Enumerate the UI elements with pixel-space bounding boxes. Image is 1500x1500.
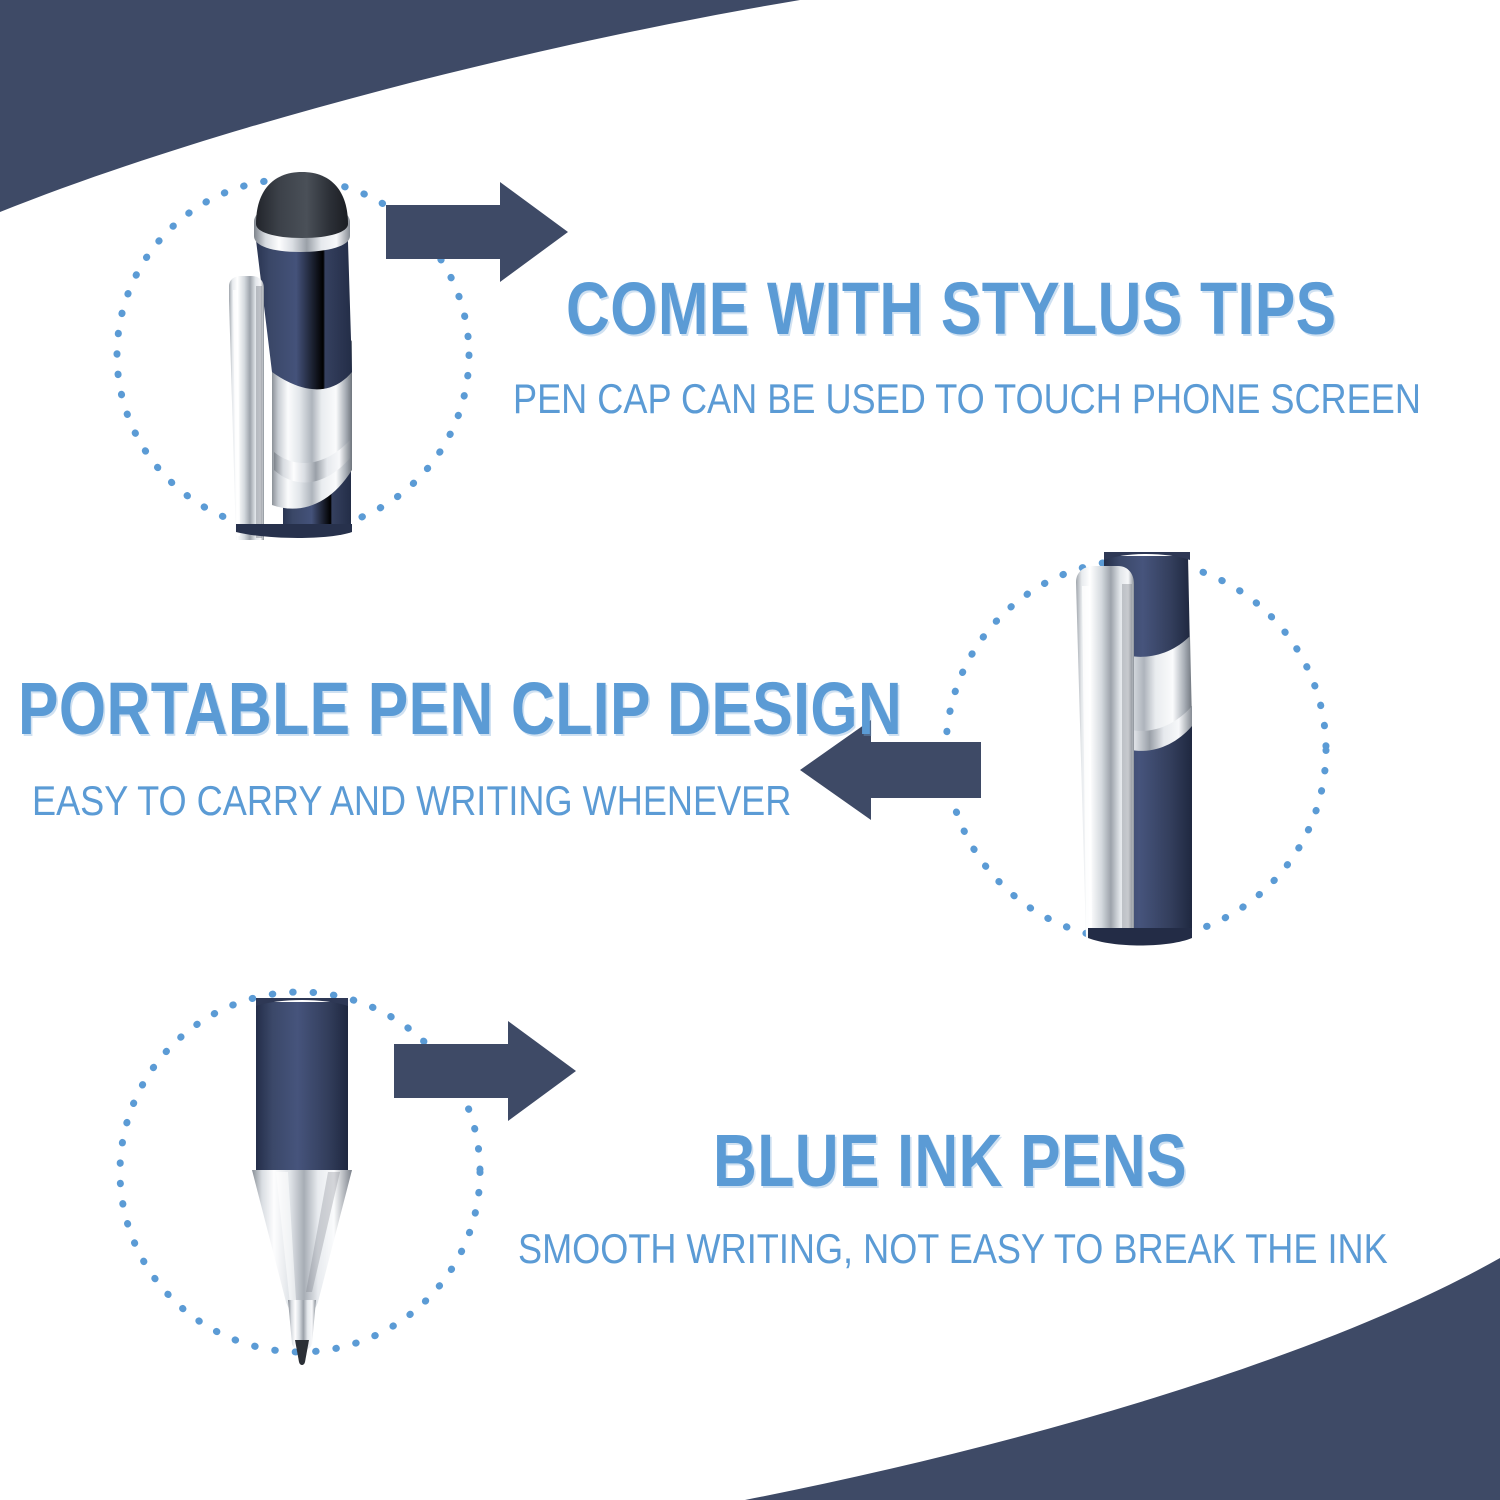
swoosh-top-left [0, 0, 800, 212]
pen-writing-tip-illustration [252, 998, 352, 1365]
infographic-canvas: COME WITH STYLUS TIPS PEN CAP CAN BE USE… [0, 0, 1500, 1500]
subheading-stylus-tips: PEN CAP CAN BE USED TO TOUCH PHONE SCREE… [513, 378, 1421, 420]
subheading-pen-clip: EASY TO CARRY AND WRITING WHENEVER [32, 780, 791, 822]
heading-blue-ink: BLUE INK PENS [713, 1124, 1187, 1198]
arrow-right-stylus [386, 182, 568, 282]
corner-decorations [0, 0, 1500, 1500]
pen-clip-closeup-illustration [1076, 552, 1192, 946]
dotted-circle-stylus [117, 179, 469, 531]
pen-cap-stylus-tip-illustration [229, 172, 352, 540]
swoosh-bottom-right [745, 1258, 1500, 1500]
heading-stylus-tips: COME WITH STYLUS TIPS [566, 272, 1336, 346]
feature-blue-ink-graphics [0, 0, 1500, 1500]
arrow-right-ink [394, 1021, 576, 1121]
dotted-circle-clip [946, 560, 1326, 940]
dotted-circle-ink [120, 992, 480, 1352]
subheading-blue-ink: SMOOTH WRITING, NOT EASY TO BREAK THE IN… [518, 1228, 1388, 1270]
feature-pen-clip-graphics [0, 0, 1500, 1500]
feature-stylus-tips-graphics [0, 0, 1500, 1500]
heading-pen-clip: PORTABLE PEN CLIP DESIGN [18, 672, 902, 746]
